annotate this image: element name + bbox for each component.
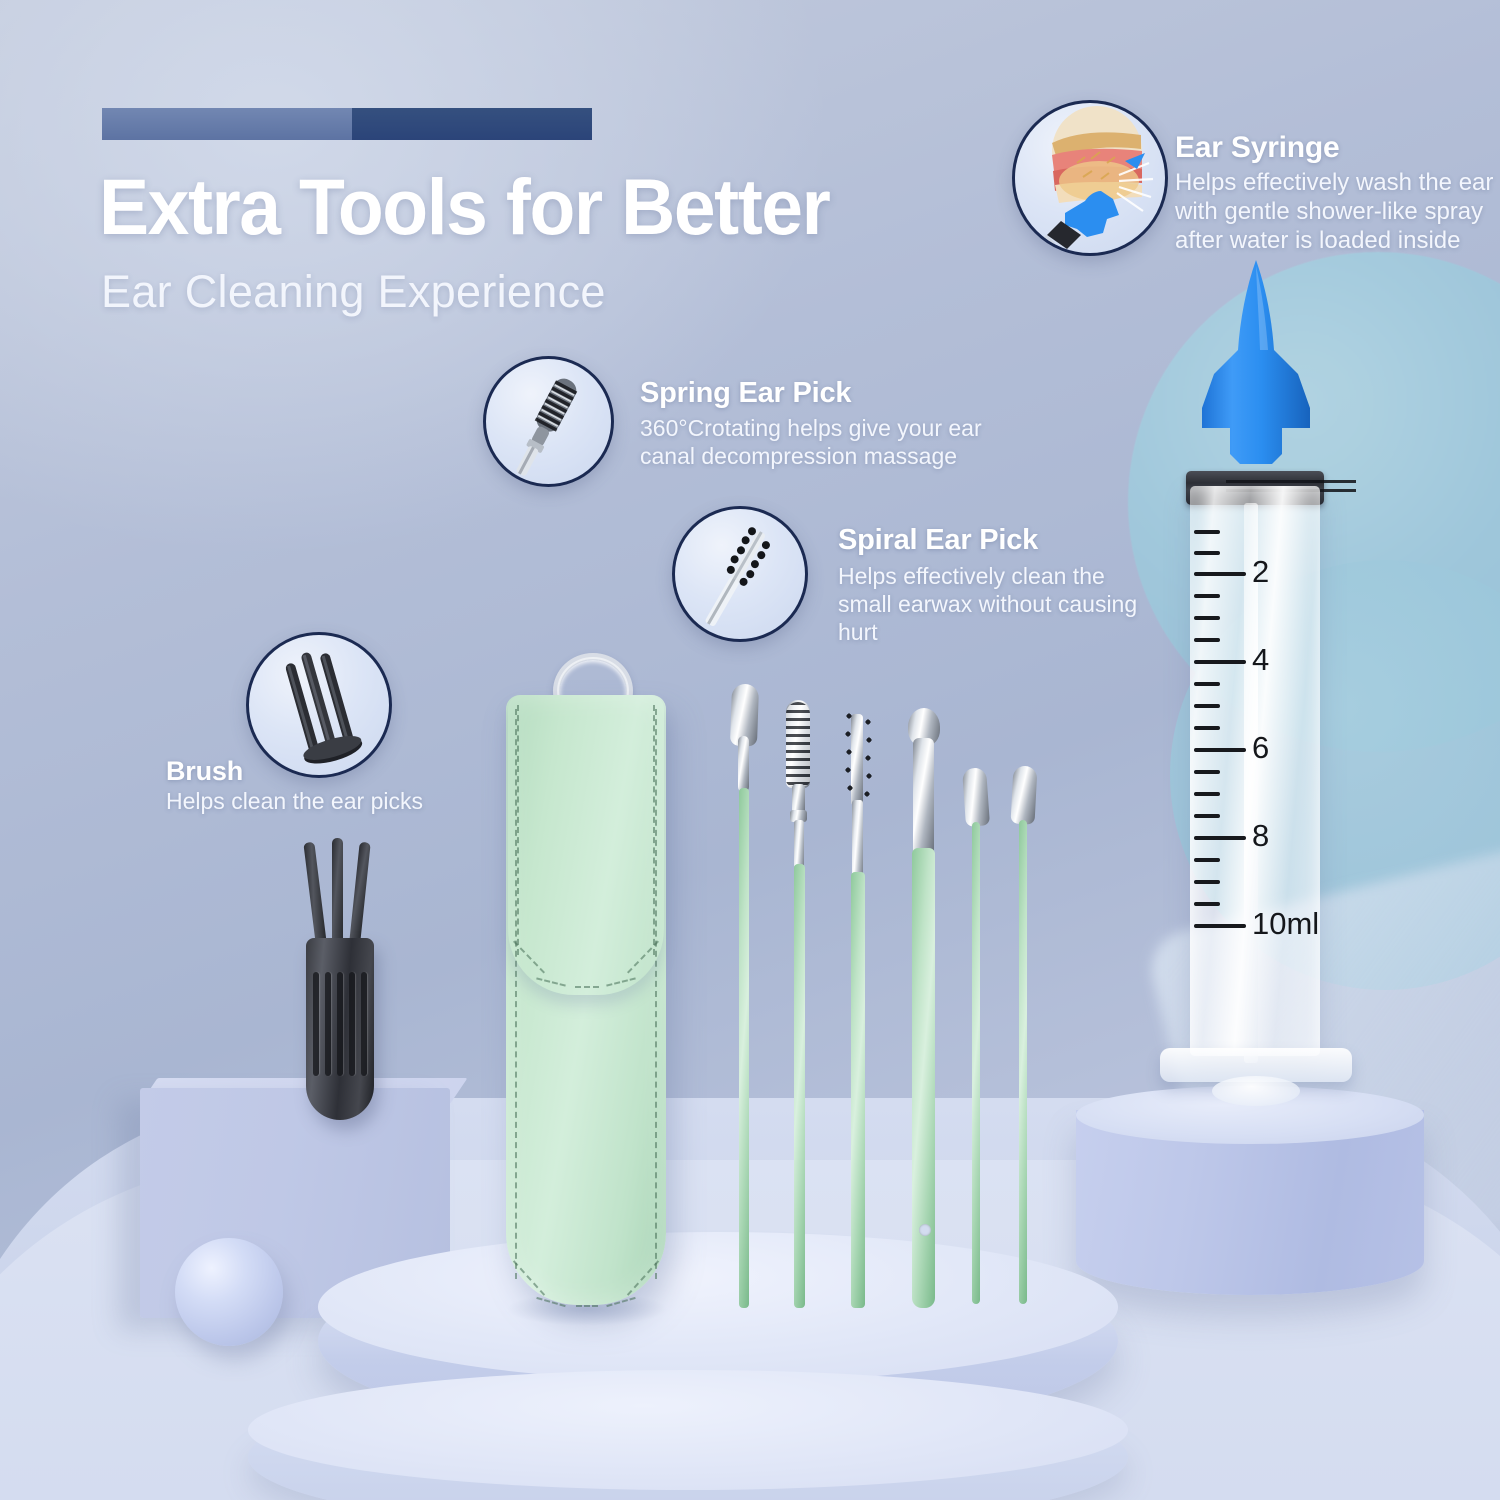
ear-pick-handle [851,872,865,1308]
ear-pick-spring [778,692,818,1308]
accent-bar [102,108,592,140]
spiral-pick-illustration [675,509,805,639]
pouch-stitch [513,1260,545,1296]
brush-handle-rib [325,972,331,1076]
syringe-tick-major [1194,572,1246,576]
ear-pick-spiral-prongs [842,708,874,804]
syringe-tick [1194,770,1220,774]
cleaning-brush-object [296,838,382,1120]
syringe-tick [1194,814,1220,818]
brush-bristle [303,842,327,953]
ear-pick-handle [739,788,749,1308]
ear-canal-illustration [1015,103,1165,253]
ear-syringe-object: 2 4 6 8 10ml [1150,258,1360,1118]
pouch-flap-stitch [606,977,636,986]
syringe-tick [1194,704,1220,708]
podium-disc-lower-top [248,1370,1128,1490]
callout-title: Spring Ear Pick [640,377,851,410]
ear-pick-handle [912,848,935,1308]
ear-pick-scoop [722,684,762,1308]
pouch-flap-stitch [575,986,599,988]
page-title: Extra Tools for Better [99,164,992,250]
callout-title: Spiral Ear Pick [838,524,1038,557]
accent-bar-left-segment [102,108,352,140]
syringe-tick [1194,551,1220,555]
ear-pick-handle [1019,820,1027,1304]
syringe-tick [1194,682,1220,686]
ear-pick-flat-neck [913,738,934,856]
brush-handle-rib [313,972,319,1076]
ear-pick-neck [738,736,749,792]
brush-handle-rib [337,972,343,1076]
syringe-cap-line [1226,480,1356,483]
brush-handle [306,938,374,1120]
syringe-tick [1194,616,1220,620]
syringe-graduation-10ml: 10ml [1252,906,1319,942]
ear-pick-spiral [838,700,882,1308]
ear-pick-handle [794,864,805,1308]
callout-title: Ear Syringe [1175,131,1340,165]
ear-pick-steel-shaft [794,820,804,868]
syringe-tick [1194,530,1220,534]
ear-pick-handle-hole [919,1224,931,1236]
syringe-tick-major [1194,836,1246,840]
callout-description: 360°Crotating helps give your ear canal … [640,414,1040,470]
syringe-tick [1194,880,1220,884]
brush-handle-rib [361,972,367,1076]
pouch-flap-stitch [536,977,566,986]
brush-bristle [332,838,343,954]
ear-pick-small-spoon-1 [958,768,992,1304]
spiral-pick-icon [672,506,808,642]
syringe-graduation-2: 2 [1252,554,1269,590]
decor-sphere [175,1238,283,1346]
syringe-tick-major [1194,748,1246,752]
syringe-foot [1212,1076,1300,1106]
page-subtitle: Ear Cleaning Experience [101,265,1001,319]
syringe-tick-major [1194,924,1246,928]
podium-disc-upper-top [318,1232,1118,1382]
brush-icon [246,632,392,778]
callout-description: Helps effectively clean the small earwax… [838,562,1158,646]
spring-pick-icon [483,356,614,487]
callout-title: Brush [166,756,243,787]
syringe-tick [1194,902,1220,906]
syringe-tick [1194,858,1220,862]
ear-pick-tip [1010,765,1037,824]
leather-pouch [506,655,666,1305]
syringe-tick [1194,726,1220,730]
brush-bristle [348,842,370,953]
pouch-flap-stitch [517,705,519,955]
syringe-graduation-4: 4 [1252,642,1269,678]
brush-illustration [249,635,389,775]
ear-pick-handle [972,822,980,1304]
ear-pick-small-spoon-2 [1006,766,1040,1304]
pouch-flap-stitch [653,705,655,955]
ear-pick-steel-shaft [852,800,863,878]
accent-bar-right-segment [352,108,592,140]
syringe-nozzle-icon [1186,258,1326,480]
product-infographic: Extra Tools for Better Ear Cleaning Expe… [0,0,1500,1500]
syringe-tick [1194,638,1220,642]
syringe-tick [1194,792,1220,796]
brush-handle-rib [349,972,355,1076]
syringe-graduation-8: 8 [1252,818,1269,854]
ear-pick-tip [962,767,990,827]
pouch-flap [508,695,664,995]
syringe-graduation-6: 6 [1252,730,1269,766]
ear-canal-spray-icon [1012,100,1168,256]
syringe-tick [1194,594,1220,598]
callout-description: Helps clean the ear picks [166,787,476,815]
callout-description: Helps effectively wash the ear with gent… [1175,168,1495,255]
pouch-stitch [576,1305,598,1307]
spring-pick-illustration [486,359,611,484]
syringe-tick-major [1194,660,1246,664]
ear-pick-spring-coils [786,702,810,786]
ear-pick-round-scoop [900,708,944,1308]
